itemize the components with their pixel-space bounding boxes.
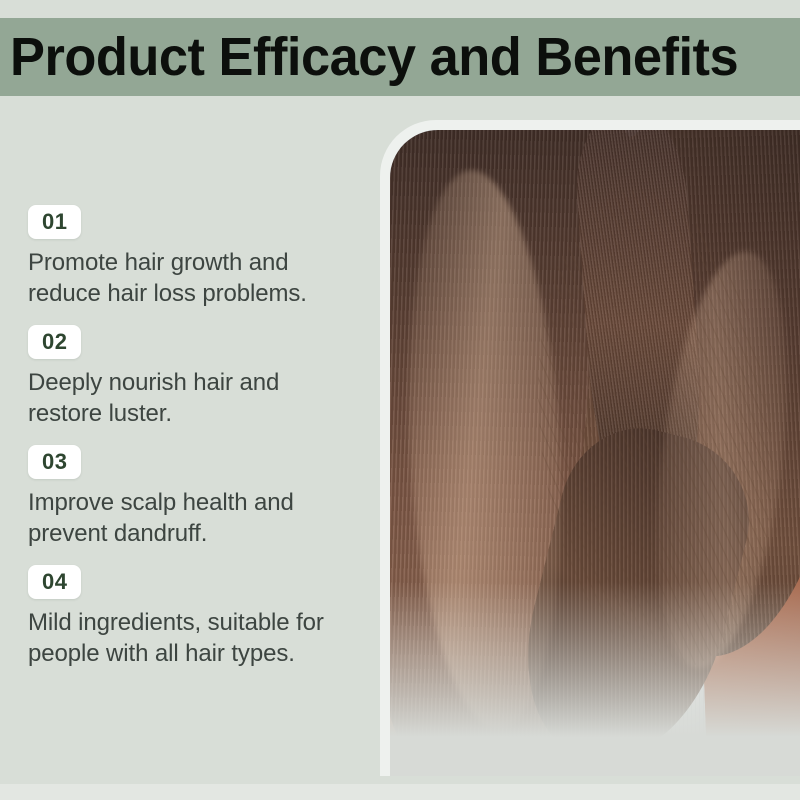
benefit-description: Mild ingredients, suitable for people wi… (28, 608, 348, 669)
benefit-item-03: 03 Improve scalp health and prevent dand… (28, 445, 358, 549)
benefits-list: 01 Promote hair growth and reduce hair l… (28, 205, 358, 685)
benefit-number-badge: 03 (28, 445, 81, 479)
header-band: Product Efficacy and Benefits (0, 18, 800, 96)
model-photo (390, 130, 800, 776)
benefit-description: Deeply nourish hair and restore luster. (28, 368, 348, 429)
photo-panel (380, 120, 800, 776)
benefit-item-04: 04 Mild ingredients, suitable for people… (28, 565, 358, 669)
benefit-number-badge: 01 (28, 205, 81, 239)
photo-lower-gradient (390, 582, 800, 776)
benefit-number-badge: 02 (28, 325, 81, 359)
benefit-item-01: 01 Promote hair growth and reduce hair l… (28, 205, 358, 309)
page-title: Product Efficacy and Benefits (10, 30, 738, 84)
benefit-number-badge: 04 (28, 565, 81, 599)
benefit-description: Improve scalp health and prevent dandruf… (28, 488, 348, 549)
bottom-strip (0, 784, 800, 800)
poster-canvas: Product Efficacy and Benefits 01 Promote… (0, 0, 800, 800)
benefit-item-02: 02 Deeply nourish hair and restore luste… (28, 325, 358, 429)
benefit-description: Promote hair growth and reduce hair loss… (28, 248, 348, 309)
